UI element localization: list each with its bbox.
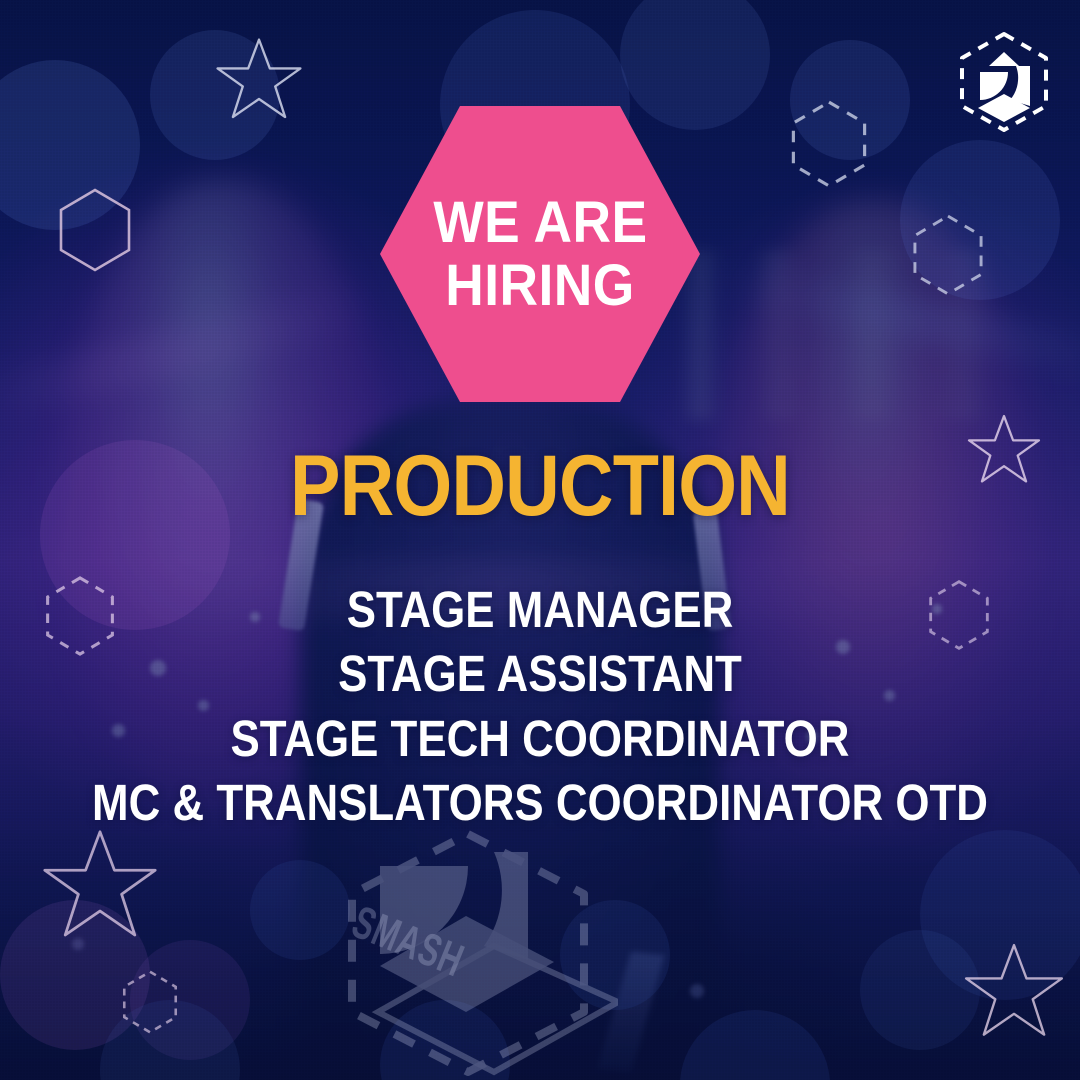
- role-list: STAGE MANAGER STAGE ASSISTANT STAGE TECH…: [0, 578, 1080, 835]
- badge-line-1: WE ARE: [433, 193, 647, 252]
- badge-line-2: HIRING: [445, 256, 635, 315]
- list-item: STAGE TECH COORDINATOR: [76, 707, 1005, 771]
- list-item: STAGE ASSISTANT: [76, 642, 1005, 706]
- brand-hexagon-logo-icon: [950, 28, 1058, 136]
- list-item: STAGE MANAGER: [76, 578, 1005, 642]
- page-title: PRODUCTION: [65, 443, 1015, 529]
- poster-canvas: WE ARE HIRING PRODUCTION STAGE MANAGER S…: [0, 0, 1080, 1080]
